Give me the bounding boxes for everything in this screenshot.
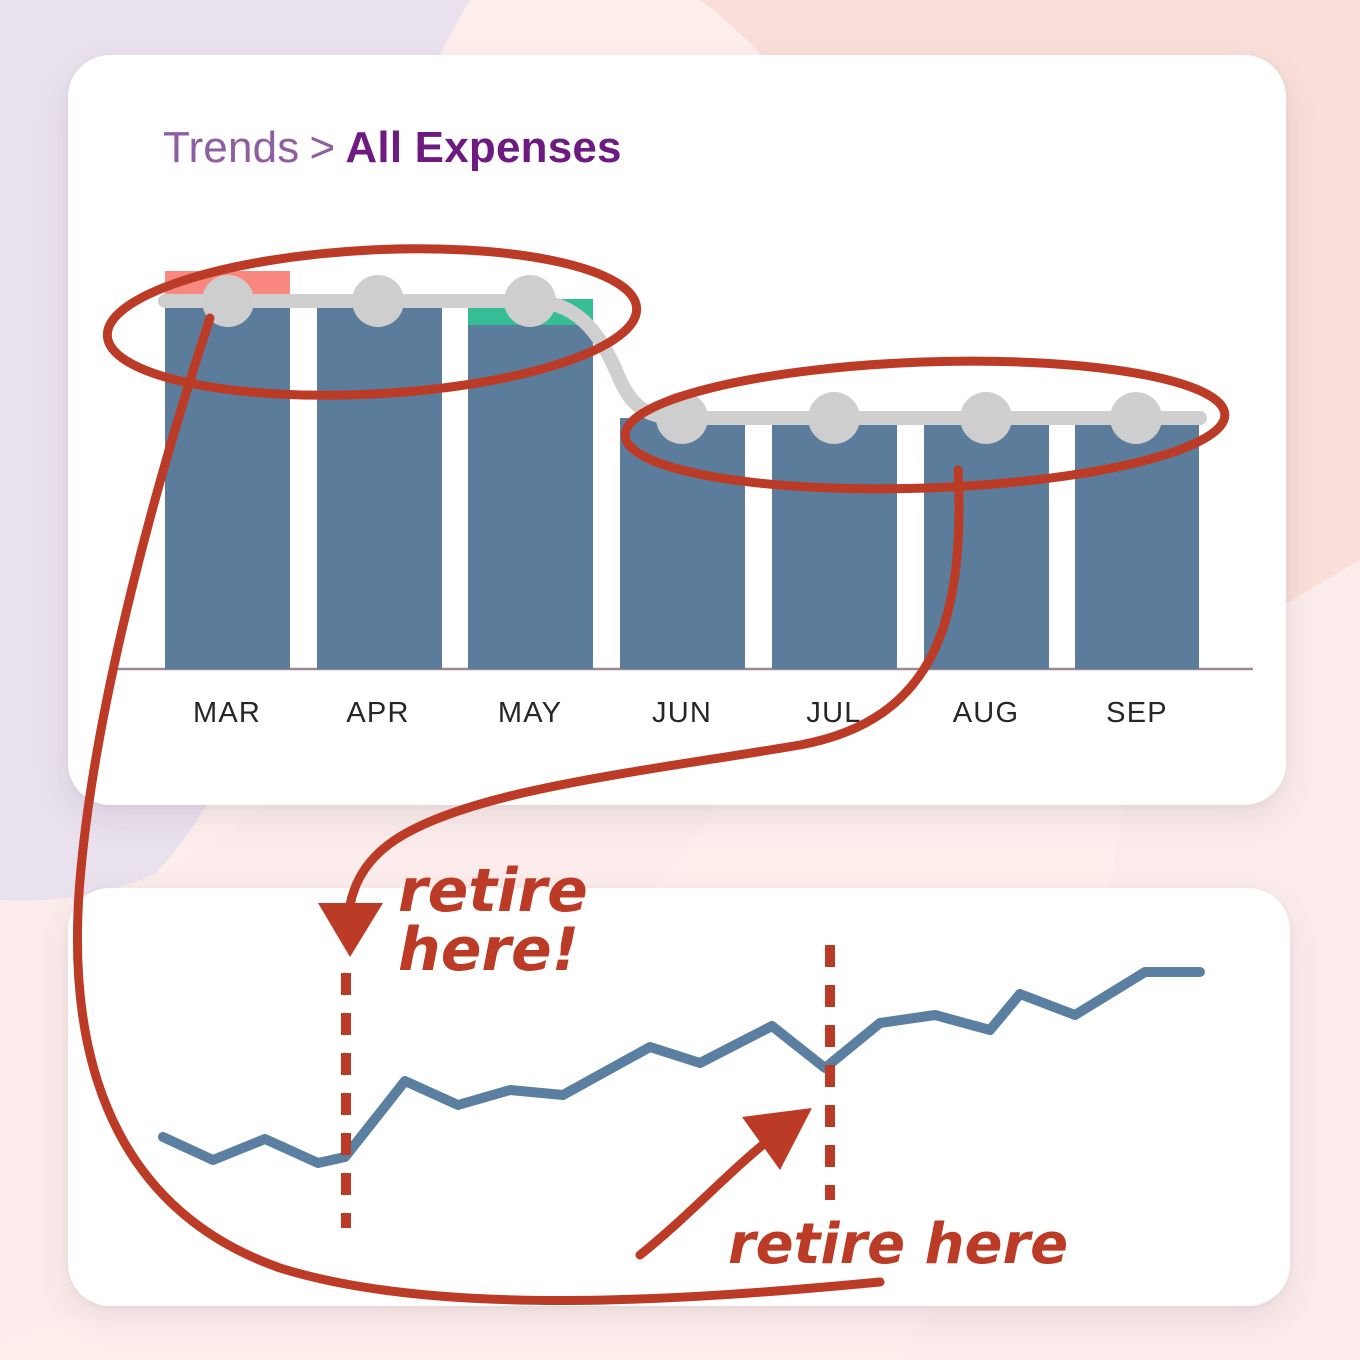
annotation-overlay — [0, 0, 1360, 1360]
highlight-ellipse-low-expenses — [623, 352, 1227, 499]
retire-here-label-1: retire here! — [398, 862, 588, 980]
screenshot-stage: Trends>All Expenses MAR APR MAY JUN JUL — [0, 0, 1360, 1360]
retire-here-label-2: retire here — [728, 1218, 1068, 1273]
retire-marker-arrow — [318, 903, 383, 957]
callout-curve-short — [350, 470, 959, 905]
highlight-ellipse-high-expenses — [104, 236, 641, 408]
